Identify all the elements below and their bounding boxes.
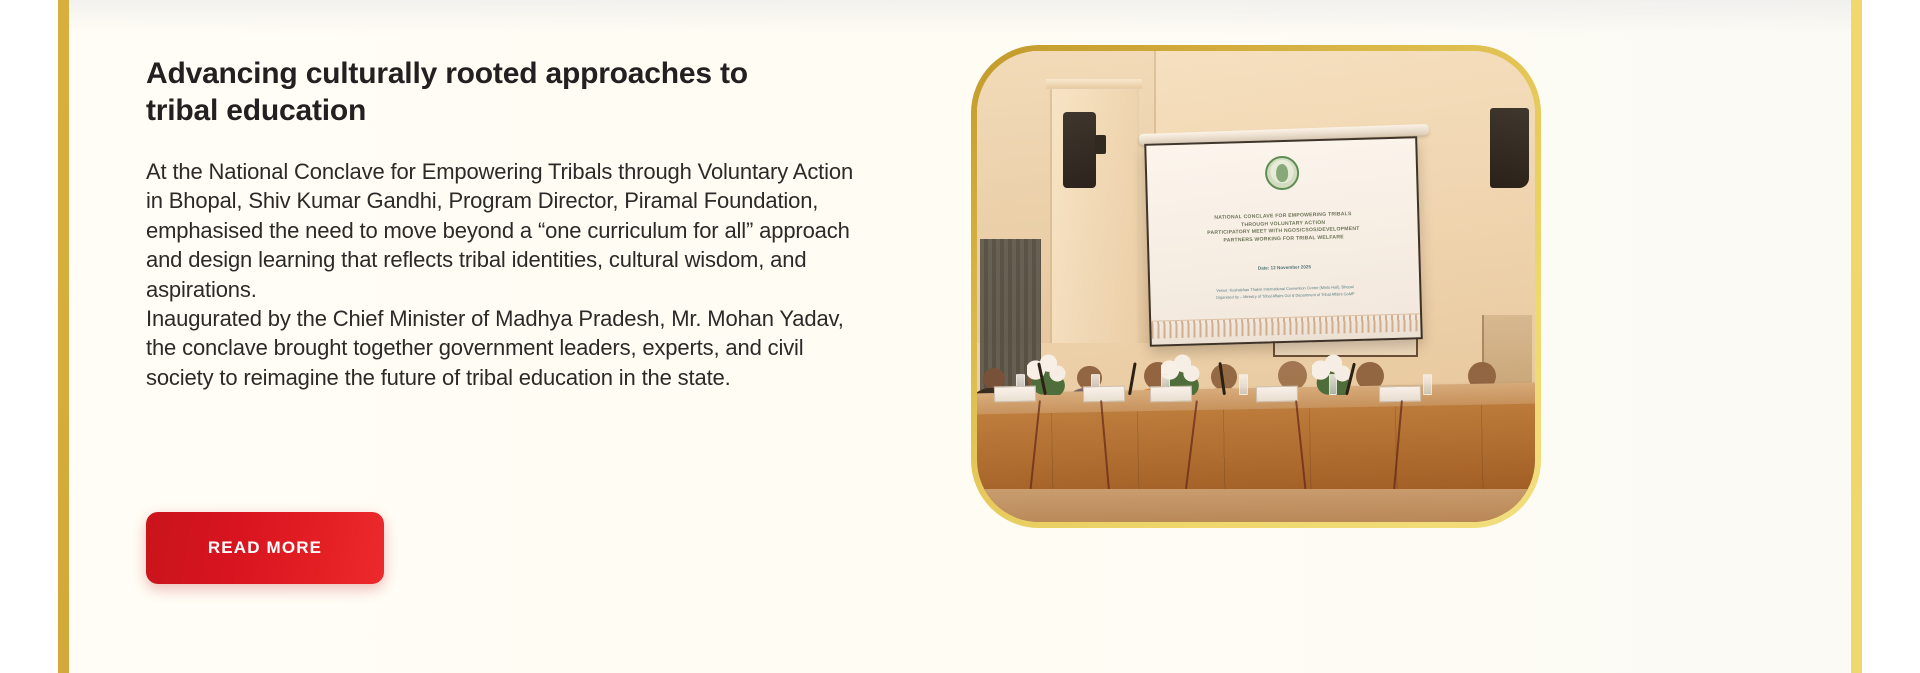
projector-screen: NATIONAL CONCLAVE FOR EMPOWERING TRIBALS… <box>1144 137 1423 347</box>
slide-tribal-border <box>1151 313 1421 338</box>
right-gold-rail <box>1851 0 1862 673</box>
name-placard <box>1379 386 1421 403</box>
water-glass <box>1329 374 1338 395</box>
article-body: At the National Conclave for Empowering … <box>146 157 862 392</box>
article-card-page: Advancing culturally rooted approaches t… <box>0 0 1920 673</box>
article-text-column: Advancing culturally rooted approaches t… <box>146 55 886 392</box>
water-glass <box>1239 374 1248 395</box>
article-paragraph-2: Inaugurated by the Chief Minister of Mad… <box>146 304 862 392</box>
photo-frame: NATIONAL CONCLAVE FOR EMPOWERING TRIBALS… <box>971 45 1541 528</box>
left-gold-rail <box>58 0 69 673</box>
photo-scene: NATIONAL CONCLAVE FOR EMPOWERING TRIBALS… <box>977 51 1535 522</box>
slide-venue: Venue: Kushabhau Thakre International Co… <box>1164 282 1407 304</box>
page-title: Advancing culturally rooted approaches t… <box>146 55 766 129</box>
cta-container: READ MORE <box>146 512 384 584</box>
water-glass <box>1423 374 1432 395</box>
conference-photo: NATIONAL CONCLAVE FOR EMPOWERING TRIBALS… <box>977 51 1535 522</box>
content-card: Advancing culturally rooted approaches t… <box>69 0 1851 673</box>
wall-speaker-left-icon <box>1063 112 1095 187</box>
name-placard <box>1256 386 1298 403</box>
slide-title: NATIONAL CONCLAVE FOR EMPOWERING TRIBALS… <box>1165 211 1403 247</box>
name-placard <box>1083 386 1125 403</box>
emblem-icon <box>1265 156 1300 191</box>
wall-speaker-right-icon <box>1490 108 1529 188</box>
read-more-button[interactable]: READ MORE <box>146 512 384 584</box>
name-placard <box>994 386 1036 403</box>
carpet <box>977 489 1535 522</box>
slide-date: Date: 12 November 2025 <box>1166 262 1403 274</box>
name-placard <box>1150 386 1192 403</box>
article-paragraph-1: At the National Conclave for Empowering … <box>146 157 862 304</box>
